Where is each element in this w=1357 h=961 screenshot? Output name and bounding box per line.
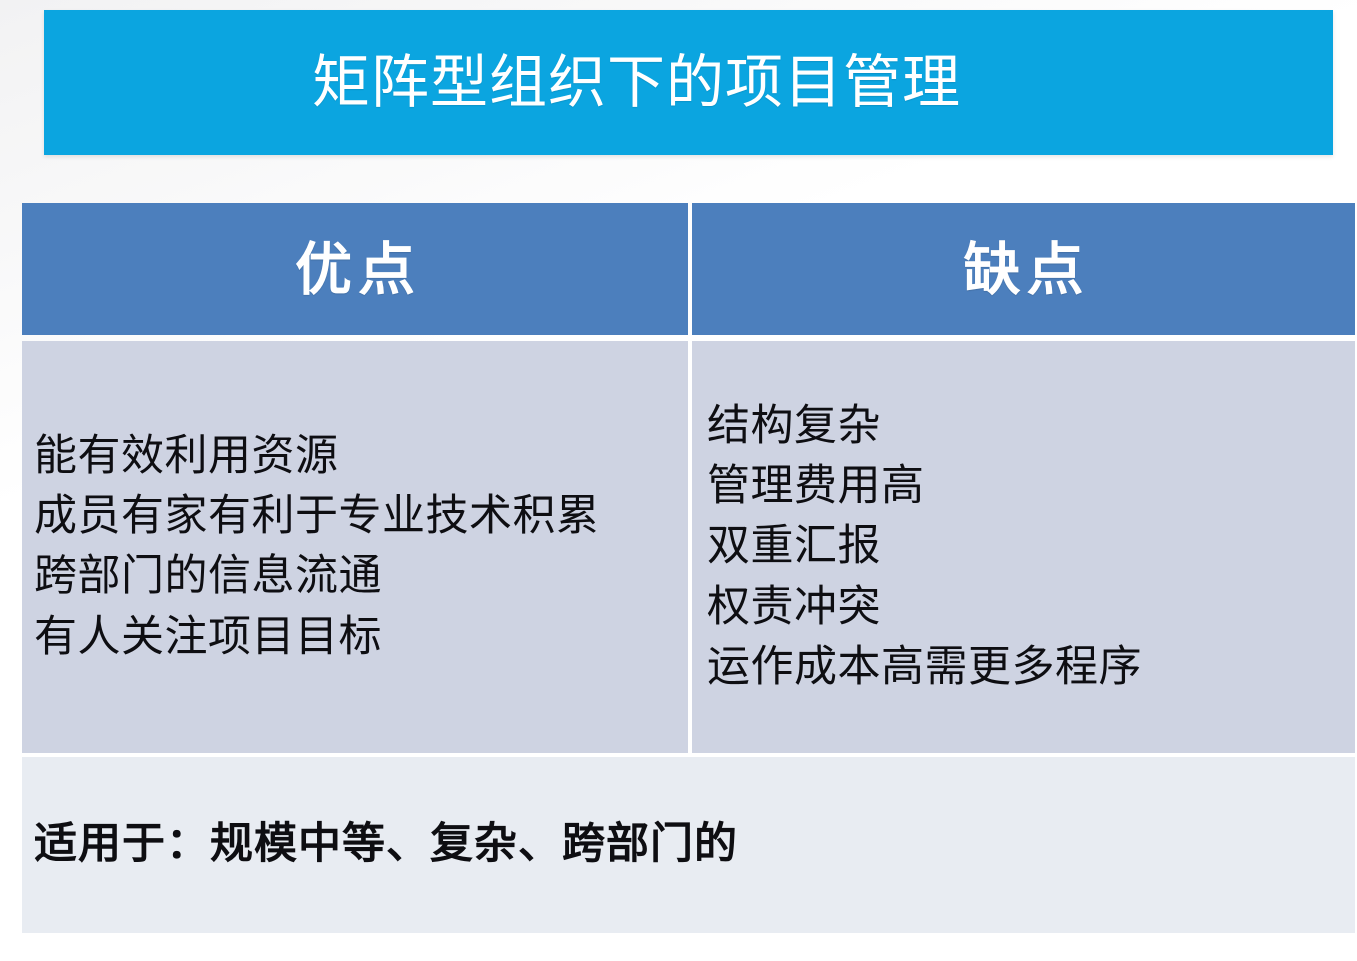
list-item: 权责冲突 (707, 577, 1142, 637)
table-cell-advantages: 能有效利用资源 成员有家有利于专业技术积累 跨部门的信息流通 有人关注项目目标 (22, 341, 688, 753)
disadvantages-list: 结构复杂 管理费用高 双重汇报 权责冲突 运作成本高需更多程序 (707, 396, 1142, 697)
applicability-note: 适用于：规模中等、复杂、跨部门的 (34, 809, 738, 871)
table-header-cell-advantages: 优点 (22, 203, 688, 335)
list-item: 结构复杂 (707, 396, 1142, 456)
table-header-cell-disadvantages: 缺点 (692, 203, 1355, 335)
advantages-list: 能有效利用资源 成员有家有利于专业技术积累 跨部门的信息流通 有人关注项目目标 (34, 426, 600, 667)
list-item: 有人关注项目目标 (34, 607, 600, 667)
column-header-label-disadvantages: 缺点 (958, 241, 1090, 298)
list-item: 跨部门的信息流通 (34, 546, 600, 606)
list-item: 成员有家有利于专业技术积累 (34, 486, 600, 546)
list-item: 能有效利用资源 (34, 426, 600, 486)
list-item: 双重汇报 (707, 516, 1142, 576)
list-item: 管理费用高 (707, 456, 1142, 516)
column-header-label-advantages: 优点 (289, 241, 421, 298)
comparison-table: 优点 缺点 能有效利用资源 成员有家有利于专业技术积累 跨部门的信息流通 有人关… (22, 203, 1355, 929)
table-footer-row: 适用于：规模中等、复杂、跨部门的 (22, 757, 1355, 933)
table-body-row: 能有效利用资源 成员有家有利于专业技术积累 跨部门的信息流通 有人关注项目目标 … (22, 341, 1355, 753)
table-cell-disadvantages: 结构复杂 管理费用高 双重汇报 权责冲突 运作成本高需更多程序 (692, 341, 1355, 753)
page-title: 矩阵型组织下的项目管理 (312, 52, 961, 113)
slide-title-banner: 矩阵型组织下的项目管理 (44, 10, 1333, 155)
table-header-row: 优点 缺点 (22, 203, 1355, 335)
list-item: 运作成本高需更多程序 (707, 637, 1142, 697)
